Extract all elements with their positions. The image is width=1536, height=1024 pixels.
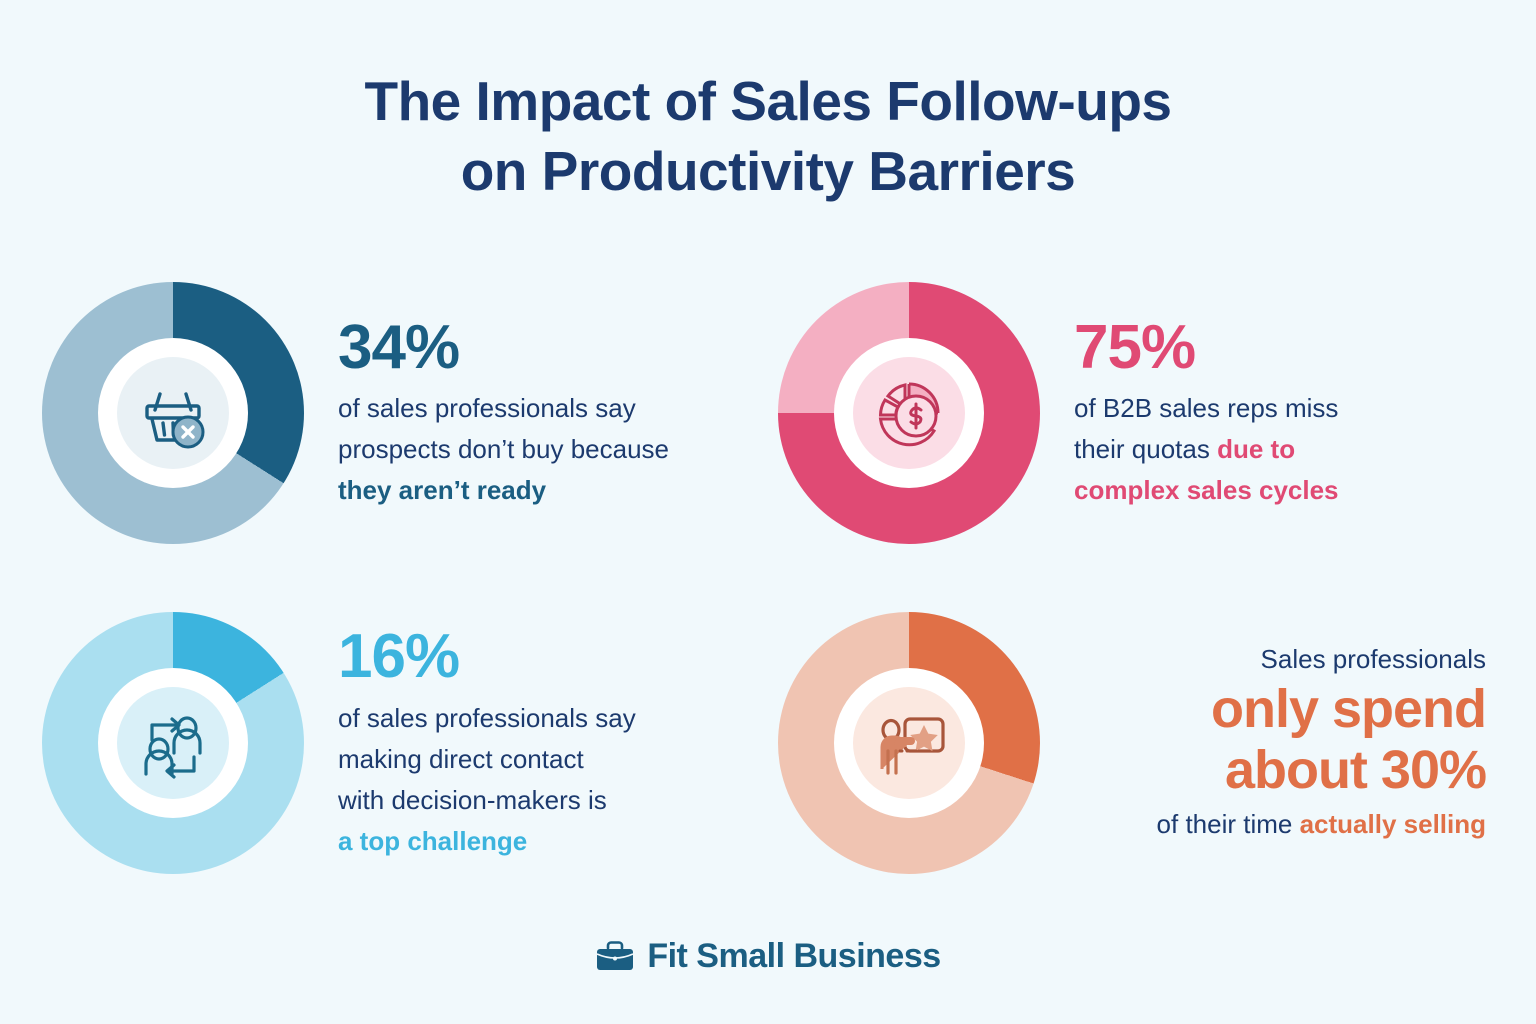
- stat-desc-16-line-2: making direct contact: [338, 744, 584, 774]
- stat-value-75: 75%: [1074, 315, 1490, 381]
- icon-disc-75: [853, 357, 965, 469]
- stat-desc-75-line-1: of B2B sales reps miss: [1074, 393, 1338, 423]
- stat-card-34: 34% of sales professionals say prospects…: [0, 248, 768, 578]
- stat-card-16: 16% of sales professionals say making di…: [0, 578, 768, 908]
- stat-value-34: 34%: [338, 315, 742, 381]
- donut-hole-34: [98, 338, 248, 488]
- shopping-basket-cancel-icon: [130, 370, 216, 456]
- stat-emphasis-16: a top challenge: [338, 826, 527, 856]
- stat-desc-16-line-3: with decision-makers is: [338, 785, 607, 815]
- stat-huge-30-line-2: about 30%: [1040, 740, 1486, 800]
- stat-desc-75-line-2: their quotas: [1074, 434, 1217, 464]
- pie-chart-dollar-icon: [866, 370, 952, 456]
- briefcase-icon: [595, 940, 635, 974]
- stat-tail-30: of their time actually selling: [1040, 804, 1486, 846]
- logo-text: Fit Small Business: [647, 937, 940, 976]
- stat-tail-30-plain: of their time: [1157, 809, 1300, 839]
- donut-hole-30: [834, 668, 984, 818]
- stat-card-30: Sales professionals only spend about 30%…: [768, 578, 1536, 908]
- presenter-star-board-icon: [865, 699, 953, 787]
- stat-desc-34-line-1: of sales professionals say: [338, 393, 636, 423]
- donut-hole-75: [834, 338, 984, 488]
- icon-disc-16: [117, 687, 229, 799]
- stat-desc-16-line-1: of sales professionals say: [338, 703, 636, 733]
- stat-emphasis-75-a: due to: [1217, 434, 1295, 464]
- donut-chart-34: [42, 282, 304, 544]
- page-title-line-1: The Impact of Sales Follow-ups: [0, 66, 1536, 136]
- stat-text-16: 16% of sales professionals say making di…: [304, 624, 742, 862]
- stat-huge-30-line-1: only spend: [1040, 679, 1486, 739]
- people-exchange-icon: [130, 700, 216, 786]
- stat-emphasis-75-b: complex sales cycles: [1074, 475, 1339, 505]
- stat-card-75: 75% of B2B sales reps miss their quotas …: [768, 248, 1536, 578]
- stats-grid: 34% of sales professionals say prospects…: [0, 248, 1536, 908]
- donut-hole-16: [98, 668, 248, 818]
- icon-disc-30: [853, 687, 965, 799]
- donut-chart-30: [778, 612, 1040, 874]
- footer-logo: Fit Small Business: [0, 937, 1536, 976]
- donut-chart-16: [42, 612, 304, 874]
- stat-text-75: 75% of B2B sales reps miss their quotas …: [1040, 315, 1490, 512]
- stat-text-34: 34% of sales professionals say prospects…: [304, 315, 742, 512]
- stat-text-30: Sales professionals only spend about 30%…: [1040, 640, 1490, 846]
- donut-chart-75: [778, 282, 1040, 544]
- icon-disc-34: [117, 357, 229, 469]
- stat-lede-30: Sales professionals: [1040, 640, 1486, 679]
- page-title: The Impact of Sales Follow-ups on Produc…: [0, 0, 1536, 207]
- stat-emphasis-30: actually selling: [1300, 809, 1486, 839]
- stat-desc-34-line-2: prospects don’t buy because: [338, 434, 669, 464]
- stat-value-16: 16%: [338, 624, 742, 690]
- stat-emphasis-34: they aren’t ready: [338, 475, 546, 505]
- page-title-line-2: on Productivity Barriers: [0, 136, 1536, 206]
